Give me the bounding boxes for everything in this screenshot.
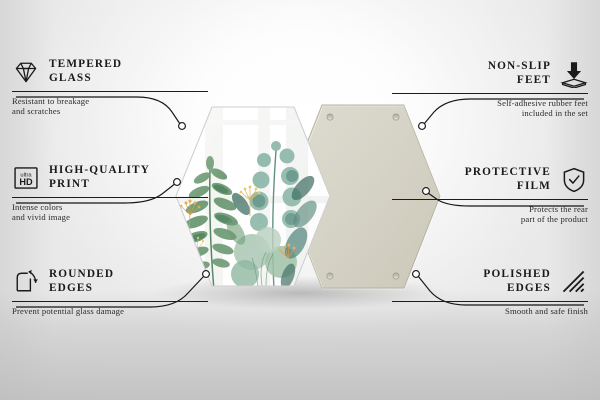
press-down-pad-icon <box>560 60 588 88</box>
divider <box>12 91 208 92</box>
feature-title: TEMPERED GLASS <box>49 58 122 85</box>
divider <box>12 301 208 302</box>
feature-protective-film: PROTECTIVE FILM Protects the rear part o… <box>392 166 588 225</box>
infographic-canvas: TEMPERED GLASS Resistant to breakage and… <box>0 0 600 400</box>
feature-description: Protects the rear part of the product <box>392 204 588 225</box>
feature-description: Intense colors and vivid image <box>12 202 208 223</box>
feature-high-quality-print: ultra HD HIGH-QUALITY PRINT Intense colo… <box>12 164 208 223</box>
feature-header: TEMPERED GLASS <box>12 58 208 86</box>
feature-title: ROUNDED EDGES <box>49 268 114 295</box>
svg-text:HD: HD <box>19 177 33 187</box>
feature-title: NON-SLIP FEET <box>488 60 551 87</box>
feature-header: NON-SLIP FEET <box>392 60 588 88</box>
feature-title: HIGH-QUALITY PRINT <box>49 164 150 191</box>
feature-title: POLISHED EDGES <box>483 268 551 295</box>
shield-check-icon <box>560 166 588 194</box>
ultra-hd-badge-icon: ultra HD <box>12 164 40 192</box>
feature-description: Prevent potential glass damage <box>12 306 208 316</box>
feature-polished-edges: POLISHED EDGES Smooth and safe finish <box>392 268 588 316</box>
feature-description: Self-adhesive rubber feet included in th… <box>392 98 588 119</box>
feature-header: PROTECTIVE FILM <box>392 166 588 194</box>
feature-title: PROTECTIVE FILM <box>465 166 551 193</box>
diagonal-stripes-icon <box>560 268 588 296</box>
divider <box>392 301 588 302</box>
divider <box>12 197 208 198</box>
feature-tempered-glass: TEMPERED GLASS Resistant to breakage and… <box>12 58 208 117</box>
divider <box>392 199 588 200</box>
divider <box>392 93 588 94</box>
feature-header: POLISHED EDGES <box>392 268 588 296</box>
diamond-icon <box>12 58 40 86</box>
rounded-corner-icon <box>12 268 40 296</box>
feature-header: ROUNDED EDGES <box>12 268 208 296</box>
feature-rounded-edges: ROUNDED EDGES Prevent potential glass da… <box>12 268 208 316</box>
feature-description: Resistant to breakage and scratches <box>12 96 208 117</box>
connector-endpoint <box>179 123 186 130</box>
connector-endpoint <box>419 123 426 130</box>
feature-non-slip-feet: NON-SLIP FEET Self-adhesive rubber feet … <box>392 60 588 119</box>
feature-header: ultra HD HIGH-QUALITY PRINT <box>12 164 208 192</box>
feature-description: Smooth and safe finish <box>392 306 588 316</box>
